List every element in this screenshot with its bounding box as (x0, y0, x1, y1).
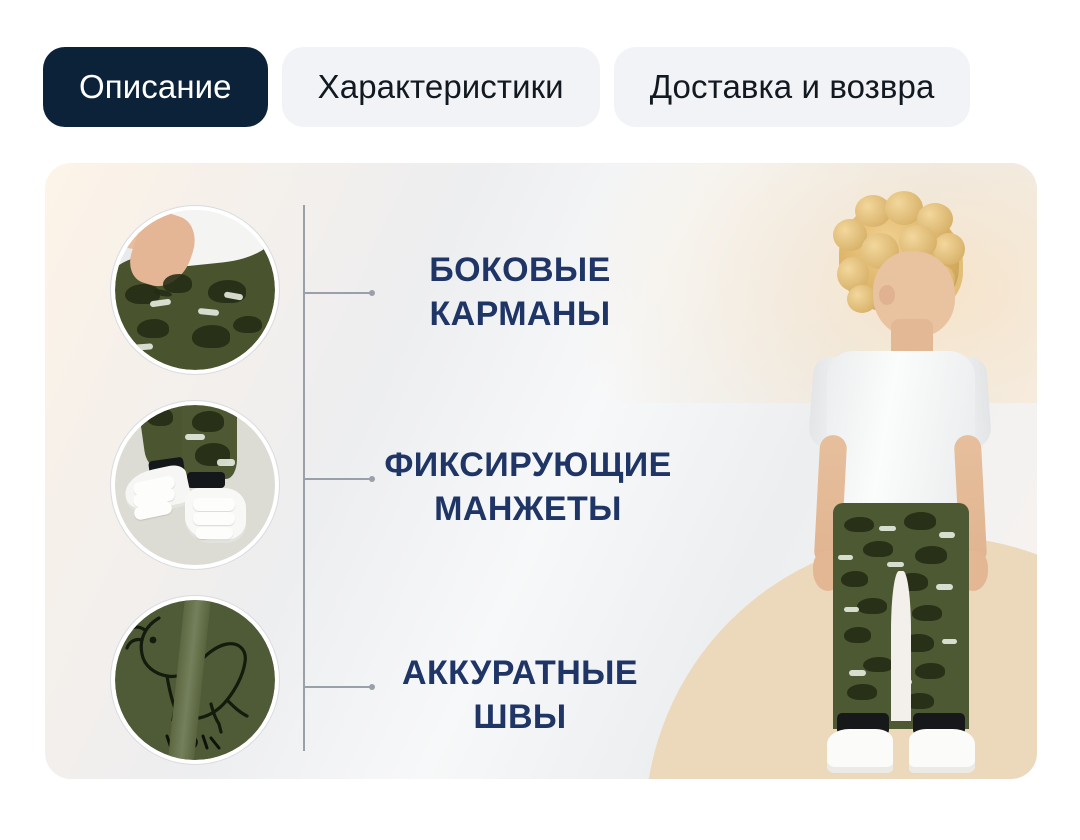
tab-delivery-and-returns[interactable]: Доставка и возвра (614, 47, 971, 127)
feature-thumb-neat-seams (115, 600, 275, 760)
model-photo (733, 173, 1033, 779)
right-ankle-cuff (187, 472, 225, 488)
feature-label-side-pockets-line2: КАРМАНЫ (375, 293, 665, 337)
feature-label-neat-seams: АККУРАТНЫЕ ШВЫ (375, 652, 665, 739)
tab-characteristics[interactable]: Характеристики (282, 47, 600, 127)
product-feature-banner: БОКОВЫЕ КАРМАНЫ ФИКСИРУЮЩИЕ МАНЖЕТЫ АККУ… (45, 163, 1037, 779)
feature-thumb-side-pockets (115, 210, 275, 370)
product-tabs[interactable]: Описание Характеристики Доставка и возвр… (0, 46, 1080, 128)
feature-label-fixing-cuffs-line2: МАНЖЕТЫ (363, 488, 693, 532)
model-leg-gap (891, 571, 911, 721)
feature-label-fixing-cuffs: ФИКСИРУЮЩИЕ МАНЖЕТЫ (363, 444, 693, 531)
feature-thumb-fixing-cuffs (115, 405, 275, 565)
feature-label-neat-seams-line1: АККУРАТНЫЕ (375, 652, 665, 696)
tab-description[interactable]: Описание (43, 47, 268, 127)
feature-thumb-side-pockets-image (115, 210, 275, 370)
feature-thumb-fixing-cuffs-image (115, 405, 275, 565)
feature-label-neat-seams-line2: ШВЫ (375, 696, 665, 740)
feature-label-fixing-cuffs-line1: ФИКСИРУЮЩИЕ (363, 444, 693, 488)
feature-label-side-pockets-line1: БОКОВЫЕ (375, 249, 665, 293)
model-right-sneaker (909, 729, 975, 773)
feature-label-side-pockets: БОКОВЫЕ КАРМАНЫ (375, 249, 665, 336)
feature-thumb-neat-seams-image (115, 600, 275, 760)
model-ear (879, 285, 895, 305)
product-description-page: Описание Характеристики Доставка и возвр… (0, 0, 1080, 840)
model-left-sneaker (827, 729, 893, 773)
